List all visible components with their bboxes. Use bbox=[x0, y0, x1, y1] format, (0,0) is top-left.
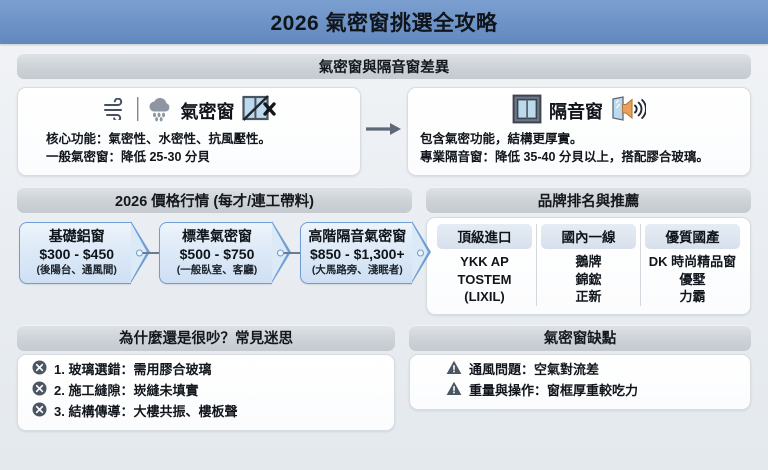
price-tag-price: $850 - $1,300+ bbox=[307, 245, 408, 263]
bottom-row: 為什麼還是很吵？常見迷思 1. 玻璃選錯：需用膠合玻璃 bbox=[0, 315, 768, 431]
price-tag[interactable]: 標準氣密窗 $500 - $750 (一般臥室、客廳) bbox=[159, 222, 271, 284]
list-item: 重量與操作：窗框厚重較吃力 bbox=[446, 381, 742, 402]
price-tags-row: 基礎鋁窗 $300 - $450 (後陽台、通風間) 標準氣密窗 $500 - … bbox=[17, 222, 412, 284]
brand-item: 優墅 bbox=[645, 271, 740, 289]
card-airtight-window: 氣密窗 bbox=[17, 87, 361, 176]
card-airtight-line-1: 核心功能：氣密性、水密性、抗風壓性。 bbox=[46, 130, 350, 148]
arrow-right-icon bbox=[366, 121, 402, 142]
tag-hole-icon bbox=[417, 250, 424, 257]
price-tag-name: 標準氣密窗 bbox=[166, 228, 267, 245]
brand-column-header: 國內一線 bbox=[541, 224, 636, 249]
comparison-row: 氣密窗 bbox=[17, 87, 751, 176]
price-tag-price: $300 - $450 bbox=[26, 245, 127, 263]
brand-item: (LIXIL) bbox=[437, 288, 532, 306]
price-tag[interactable]: 高階隔音氣密窗 $850 - $1,300+ (大馬路旁、淺眠者) bbox=[300, 222, 412, 284]
window-icon bbox=[512, 94, 542, 129]
tag-connector bbox=[282, 252, 300, 254]
list-item-label: 1. 玻璃選錯：需用膠合玻璃 bbox=[54, 360, 211, 380]
warning-triangle-icon bbox=[446, 381, 462, 402]
x-circle-icon bbox=[32, 402, 47, 423]
warning-triangle-icon bbox=[446, 360, 462, 381]
section-brand: 品牌排名與推薦 頂級進口 YKK AP TOSTEM (LIXIL) 國內一線 … bbox=[426, 187, 751, 315]
section-title-myths: 為什麼還是很吵？常見迷思 bbox=[17, 325, 395, 351]
wind-icon bbox=[103, 98, 129, 125]
card-airtight-name: 氣密窗 bbox=[181, 98, 235, 124]
tag-hole-icon bbox=[136, 250, 143, 257]
infographic-page: 2026 氣密窗挑選全攻略 氣密窗與隔音窗差異 bbox=[0, 0, 768, 470]
card-airtight-line-2: 一般氣密窗：降低 25-30 分貝 bbox=[46, 148, 350, 166]
icon-divider bbox=[136, 97, 139, 126]
brand-item: 正新 bbox=[541, 288, 636, 306]
brand-item: 錦鋐 bbox=[541, 271, 636, 289]
tag-connector bbox=[141, 252, 159, 254]
list-item-label: 2. 施工縫隙：崁縫未填實 bbox=[54, 381, 198, 401]
comparison-arrow bbox=[361, 87, 407, 176]
brand-column: 國內一線 鵝牌 錦鋐 正新 bbox=[536, 224, 640, 306]
section-title-price: 2026 價格行情 (每才/連工帶料) bbox=[17, 187, 412, 213]
card-airtight-lines: 核心功能：氣密性、水密性、抗風壓性。 一般氣密窗：降低 25-30 分貝 bbox=[28, 130, 350, 166]
section-title-comparison: 氣密窗與隔音窗差異 bbox=[17, 53, 751, 79]
brand-item: TOSTEM bbox=[437, 271, 532, 289]
brand-table: 頂級進口 YKK AP TOSTEM (LIXIL) 國內一線 鵝牌 錦鋐 正新… bbox=[426, 217, 751, 315]
card-soundproof-window: 隔音窗 bbox=[407, 87, 751, 176]
brand-item: 力霸 bbox=[645, 288, 740, 306]
brand-item: YKK AP bbox=[437, 253, 532, 271]
price-tag-name: 基礎鋁窗 bbox=[26, 228, 127, 245]
list-item: 3. 結構傳導：大樓共振、樓板聲 bbox=[32, 402, 386, 423]
list-item: 通風問題：空氣對流差 bbox=[446, 360, 742, 381]
list-item-label: 重量與操作：窗框厚重較吃力 bbox=[469, 381, 638, 401]
card-soundproof-name: 隔音窗 bbox=[549, 98, 603, 124]
section-myths: 為什麼還是很吵？常見迷思 1. 玻璃選錯：需用膠合玻璃 bbox=[17, 325, 395, 431]
myths-list: 1. 玻璃選錯：需用膠合玻璃 2. 施工縫隙：崁縫未填實 bbox=[17, 354, 395, 431]
tag-hole-icon bbox=[277, 250, 284, 257]
card-airtight-header: 氣密窗 bbox=[103, 95, 276, 127]
x-circle-icon bbox=[32, 381, 47, 402]
list-item: 1. 玻璃選錯：需用膠合玻璃 bbox=[32, 360, 386, 381]
brand-column: 優質國產 DK 時尚精品窗 優墅 力霸 bbox=[640, 224, 744, 306]
brand-column-header: 頂級進口 bbox=[437, 224, 532, 249]
card-soundproof-line-1: 包含氣密功能，結構更厚實。 bbox=[420, 130, 740, 148]
price-tag-note: (一般臥室、客廳) bbox=[166, 263, 267, 278]
brand-column-header: 優質國產 bbox=[645, 224, 740, 249]
list-item: 2. 施工縫隙：崁縫未填實 bbox=[32, 381, 386, 402]
price-tag-note: (大馬路旁、淺眠者) bbox=[307, 263, 408, 278]
section-title-cons: 氣密窗缺點 bbox=[409, 325, 751, 351]
price-tag-price: $500 - $750 bbox=[166, 245, 267, 263]
section-cons: 氣密窗缺點 通風問題：空氣對流差 bbox=[409, 325, 751, 431]
x-circle-icon bbox=[32, 360, 47, 381]
section-price: 2026 價格行情 (每才/連工帶料) 基礎鋁窗 $300 - $450 (後陽… bbox=[17, 187, 412, 315]
rain-cloud-icon bbox=[146, 96, 174, 127]
cons-list: 通風問題：空氣對流差 重量與操作：窗框厚重較吃力 bbox=[409, 354, 751, 410]
middle-row: 2026 價格行情 (每才/連工帶料) 基礎鋁窗 $300 - $450 (後陽… bbox=[0, 176, 768, 315]
speaker-sound-icon bbox=[610, 95, 646, 128]
brand-item: 鵝牌 bbox=[541, 253, 636, 271]
section-comparison: 氣密窗與隔音窗差異 bbox=[0, 44, 768, 176]
price-tag-note: (後陽台、通風間) bbox=[26, 263, 127, 278]
page-header: 2026 氣密窗挑選全攻略 bbox=[0, 0, 768, 44]
brand-item: DK 時尚精品窗 bbox=[645, 253, 740, 271]
card-soundproof-line-2: 專業隔音窗：降低 35-40 分貝以上，搭配膠合玻璃。 bbox=[420, 148, 740, 166]
price-tag-name: 高階隔音氣密窗 bbox=[307, 228, 408, 245]
list-item-label: 3. 結構傳導：大樓共振、樓板聲 bbox=[54, 402, 237, 422]
brand-column: 頂級進口 YKK AP TOSTEM (LIXIL) bbox=[433, 224, 536, 306]
section-title-brand: 品牌排名與推薦 bbox=[426, 187, 751, 213]
card-soundproof-header: 隔音窗 bbox=[512, 95, 646, 127]
page-title: 2026 氣密窗挑選全攻略 bbox=[270, 7, 497, 37]
window-blocked-icon bbox=[242, 94, 276, 129]
card-soundproof-lines: 包含氣密功能，結構更厚實。 專業隔音窗：降低 35-40 分貝以上，搭配膠合玻璃… bbox=[418, 130, 740, 166]
list-item-label: 通風問題：空氣對流差 bbox=[469, 360, 599, 380]
price-tag[interactable]: 基礎鋁窗 $300 - $450 (後陽台、通風間) bbox=[19, 222, 131, 284]
